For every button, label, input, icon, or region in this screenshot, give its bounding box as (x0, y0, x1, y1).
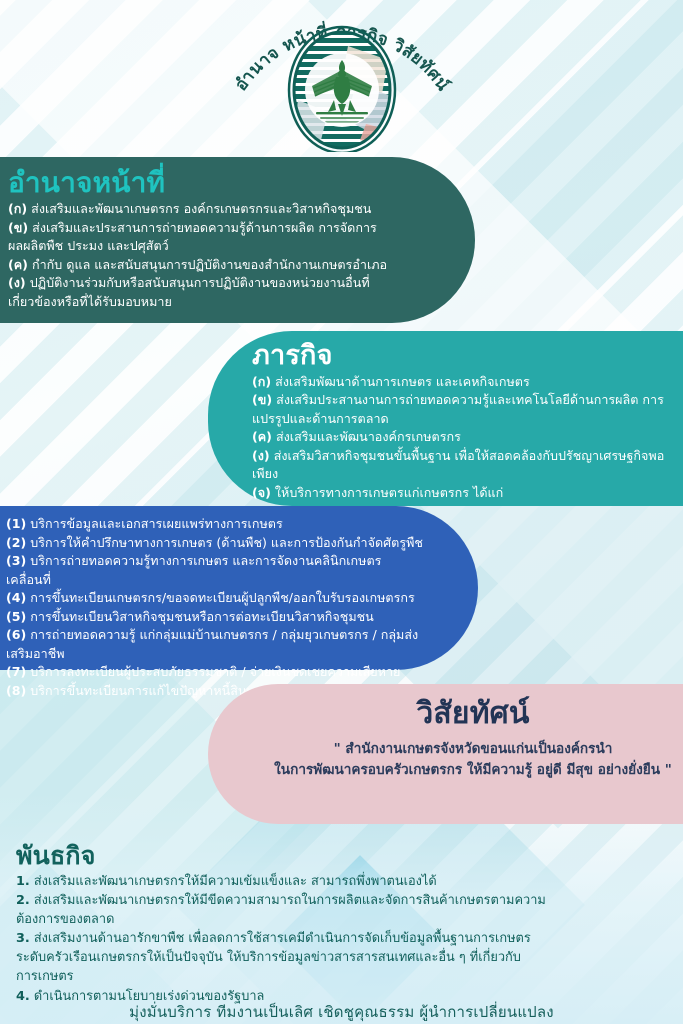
item-lead: (จ) (252, 485, 271, 500)
list-item: (5) การขึ้นทะเบียนวิสาหกิจชุมชนหรือการต่… (6, 608, 424, 627)
list-item: (7) บริการลงทะเบียนผู้ประสบภัยธรรมชาติ /… (6, 663, 424, 682)
item-text: บริการลงทะเบียนผู้ประสบภัยธรรมชาติ / จ่า… (30, 664, 400, 679)
item-text: ส่งเสริมและพัฒนาเกษตรกรให้มีความเข้มแข็ง… (34, 874, 437, 889)
item-lead: (5) (6, 609, 26, 624)
item-text: ส่งเสริมและพัฒนาองค์กรเกษตรกร (276, 429, 461, 444)
list-item: (จ) ให้บริการทางการเกษตรแก่เกษตรกร ได้แก… (252, 484, 673, 503)
item-text: ส่งเสริมและพัฒนาเกษตรกร องค์กรเกษตรกรและ… (31, 201, 371, 216)
item-lead: (ค) (8, 257, 28, 272)
list-item: (ข) ส่งเสริมและประสานการถ่ายทอดความรู้ด้… (8, 219, 415, 256)
item-text: ส่งเสริมงานด้านอารักขาพืช เพื่อลดการใช้ส… (16, 931, 531, 984)
poster-header: อำนาจ หน้าที่ ภารกิจ วิสัยทัศน์ (0, 0, 683, 152)
section-mission: ภารกิจ (ก) ส่งเสริมพัฒนาด้านการเกษตร และ… (208, 331, 683, 506)
item-lead: (1) (6, 516, 26, 531)
list-item: (3) บริการถ่ายทอดความรู้ทางการเกษตร และก… (6, 552, 424, 589)
section-authority: อำนาจหน้าที่ (ก) ส่งเสริมและพัฒนาเกษตรกร… (0, 157, 475, 323)
list-item: 3. ส่งเสริมงานด้านอารักขาพืช เพื่อลดการใ… (16, 929, 558, 987)
section-services: (1) บริการข้อมูลและเอกสารเผยแพร่ทางการเก… (0, 506, 478, 670)
duties-list: 1. ส่งเสริมและพัฒนาเกษตรกรให้มีความเข้มแ… (16, 872, 558, 1006)
item-lead: (7) (6, 664, 26, 679)
item-text: บริการถ่ายทอดความรู้ทางการเกษตร และการจั… (6, 553, 381, 587)
vision-quote-line-2: ในการพัฒนาครอบครัวเกษตรกร ให้มีความรู้ อ… (248, 760, 683, 781)
footer-tagline: มุ่งมั่นบริการ ทีมงานเป็นเลิศ เชิดชูคุณธ… (0, 1000, 683, 1024)
item-text: บริการให้คำปรึกษาทางการเกษตร (ด้านพืช) แ… (30, 535, 423, 550)
item-lead: 1. (16, 874, 30, 889)
emblem-seal-icon (212, 4, 472, 152)
item-lead: (ง) (252, 448, 270, 463)
item-text: การถ่ายทอดความรู้ แก่กลุ่มแม่บ้านเกษตรกร… (6, 627, 418, 661)
authority-title: อำนาจหน้าที่ (8, 166, 415, 199)
item-text: ส่งเสริมพัฒนาด้านการเกษตร และเคหกิจเกษตร (275, 374, 530, 389)
item-text: ให้บริการทางการเกษตรแก่เกษตรกร ได้แก่ (275, 485, 503, 500)
mission-list: (ก) ส่งเสริมพัฒนาด้านการเกษตร และเคหกิจเ… (252, 373, 673, 503)
list-item: 1. ส่งเสริมและพัฒนาเกษตรกรให้มีความเข้มแ… (16, 872, 558, 891)
list-item: (ค) ส่งเสริมและพัฒนาองค์กรเกษตรกร (252, 428, 673, 447)
list-item: (ง) ปฏิบัติงานร่วมกับหรือสนับสนุนการปฏิบ… (8, 274, 415, 311)
item-text: ปฏิบัติงานร่วมกับหรือสนับสนุนการปฏิบัติง… (8, 275, 370, 309)
item-text: บริการข้อมูลและเอกสารเผยแพร่ทางการเกษตร (30, 516, 282, 531)
item-lead: (ก) (252, 374, 271, 389)
item-text: ส่งเสริมและประสานการถ่ายทอดความรู้ด้านกา… (8, 220, 377, 254)
emblem-block: อำนาจ หน้าที่ ภารกิจ วิสัยทัศน์ (212, 4, 472, 152)
list-item: (ง) ส่งเสริมวิสาหกิจชุมชนขั้นพื้นฐาน เพื… (252, 447, 673, 484)
list-item: 2. ส่งเสริมและพัฒนาเกษตรกรให้มีขีดความสา… (16, 891, 558, 929)
list-item: (ก) ส่งเสริมพัฒนาด้านการเกษตร และเคหกิจเ… (252, 373, 673, 392)
item-text: การขึ้นทะเบียนเกษตรกร/ขอจดทะเบียนผู้ปลูก… (30, 590, 414, 605)
list-item: (ค) กำกับ ดูแล และสนับสนุนการปฏิบัติงานข… (8, 256, 415, 275)
item-lead: (3) (6, 553, 26, 568)
item-lead: (6) (6, 627, 26, 642)
list-item: (1) บริการข้อมูลและเอกสารเผยแพร่ทางการเก… (6, 515, 424, 534)
item-lead: (ข) (8, 220, 28, 235)
item-lead: (ค) (252, 429, 272, 444)
item-lead: (ง) (8, 275, 26, 290)
duties-title: พันธกิจ (16, 841, 558, 871)
vision-title: วิสัยทัศน์ (248, 696, 683, 731)
mission-title: ภารกิจ (252, 340, 673, 372)
item-text: กำกับ ดูแล และสนับสนุนการปฏิบัติงานของสำ… (32, 257, 387, 272)
item-text: การขึ้นทะเบียนวิสาหกิจชุมชนหรือการต่อทะเ… (30, 609, 374, 624)
item-lead: (4) (6, 590, 26, 605)
item-text: ส่งเสริมประสานงานการถ่ายทอดความรู้และเทค… (252, 392, 664, 426)
list-item: (6) การถ่ายทอดความรู้ แก่กลุ่มแม่บ้านเกษ… (6, 626, 424, 663)
poster-root: อำนาจ หน้าที่ ภารกิจ วิสัยทัศน์ (0, 0, 683, 1024)
item-lead: (8) (6, 683, 26, 698)
section-vision: วิสัยทัศน์ " สำนักงานเกษตรจังหวัดขอนแก่น… (208, 684, 683, 824)
authority-list: (ก) ส่งเสริมและพัฒนาเกษตรกร องค์กรเกษตรก… (8, 200, 415, 311)
item-lead: 3. (16, 931, 30, 946)
item-lead: 2. (16, 893, 30, 908)
item-lead: (ข) (252, 392, 272, 407)
list-item: (ก) ส่งเสริมและพัฒนาเกษตรกร องค์กรเกษตรก… (8, 200, 415, 219)
list-item: (2) บริการให้คำปรึกษาทางการเกษตร (ด้านพื… (6, 534, 424, 553)
list-item: (4) การขึ้นทะเบียนเกษตรกร/ขอจดทะเบียนผู้… (6, 589, 424, 608)
list-item: (ข) ส่งเสริมประสานงานการถ่ายทอดความรู้แล… (252, 391, 673, 428)
item-lead: (2) (6, 535, 26, 550)
section-duties: พันธกิจ 1. ส่งเสริมและพัฒนาเกษตรกรให้มีค… (8, 841, 568, 1006)
item-text: ส่งเสริมวิสาหกิจชุมชนขั้นพื้นฐาน เพื่อให… (252, 448, 664, 482)
vision-quote-line-1: " สำนักงานเกษตรจังหวัดขอนแก่นเป็นองค์กรน… (248, 739, 683, 760)
item-lead: (ก) (8, 201, 27, 216)
item-text: ส่งเสริมและพัฒนาเกษตรกรให้มีขีดความสามาร… (16, 893, 546, 927)
services-list: (1) บริการข้อมูลและเอกสารเผยแพร่ทางการเก… (6, 515, 424, 700)
